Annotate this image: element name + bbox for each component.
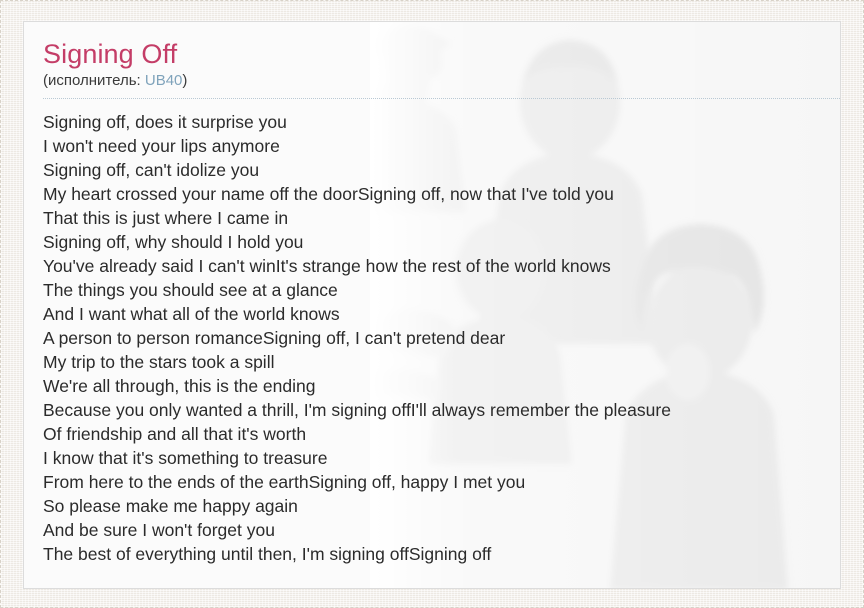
lyric-line: We're all through, this is the ending (43, 374, 840, 398)
song-header: Signing Off (исполнитель: UB40) (43, 38, 840, 99)
lyric-line: You've already said I can't winIt's stra… (43, 254, 840, 278)
lyric-line: From here to the ends of the earthSignin… (43, 470, 840, 494)
lyrics-card: Signing Off (исполнитель: UB40) Signing … (23, 21, 841, 589)
lyric-line: My trip to the stars took a spill (43, 350, 840, 374)
lyric-line: And be sure I won't forget you (43, 518, 840, 542)
lyric-line: Of friendship and all that it's worth (43, 422, 840, 446)
artist-suffix-label: ) (182, 72, 187, 89)
lyric-line: I won't need your lips anymore (43, 134, 840, 158)
lyrics-text: Signing off, does it surprise you I won'… (43, 110, 840, 566)
lyric-line: So please make me happy again (43, 494, 840, 518)
page-title: Signing Off (43, 38, 821, 70)
lyric-line: The best of everything until then, I'm s… (43, 542, 840, 566)
lyric-line: Signing off, why should I hold you (43, 230, 840, 254)
artist-link[interactable]: UB40 (145, 72, 183, 89)
lyric-line: The things you should see at a glance (43, 278, 840, 302)
lyric-line: A person to person romanceSigning off, I… (43, 326, 840, 350)
lyric-line: Because you only wanted a thrill, I'm si… (43, 398, 840, 422)
lyric-line: I know that it's something to treasure (43, 446, 840, 470)
lyric-line: Signing off, does it surprise you (43, 110, 840, 134)
artist-prefix-label: (исполнитель: (43, 72, 145, 89)
lyric-line: And I want what all of the world knows (43, 302, 840, 326)
page-background: Signing Off (исполнитель: UB40) Signing … (0, 0, 864, 608)
lyric-line: My heart crossed your name off the doorS… (43, 182, 840, 206)
lyric-line: That this is just where I came in (43, 206, 840, 230)
lyric-line: Signing off, can't idolize you (43, 158, 840, 182)
artist-line: (исполнитель: UB40) (43, 71, 821, 91)
